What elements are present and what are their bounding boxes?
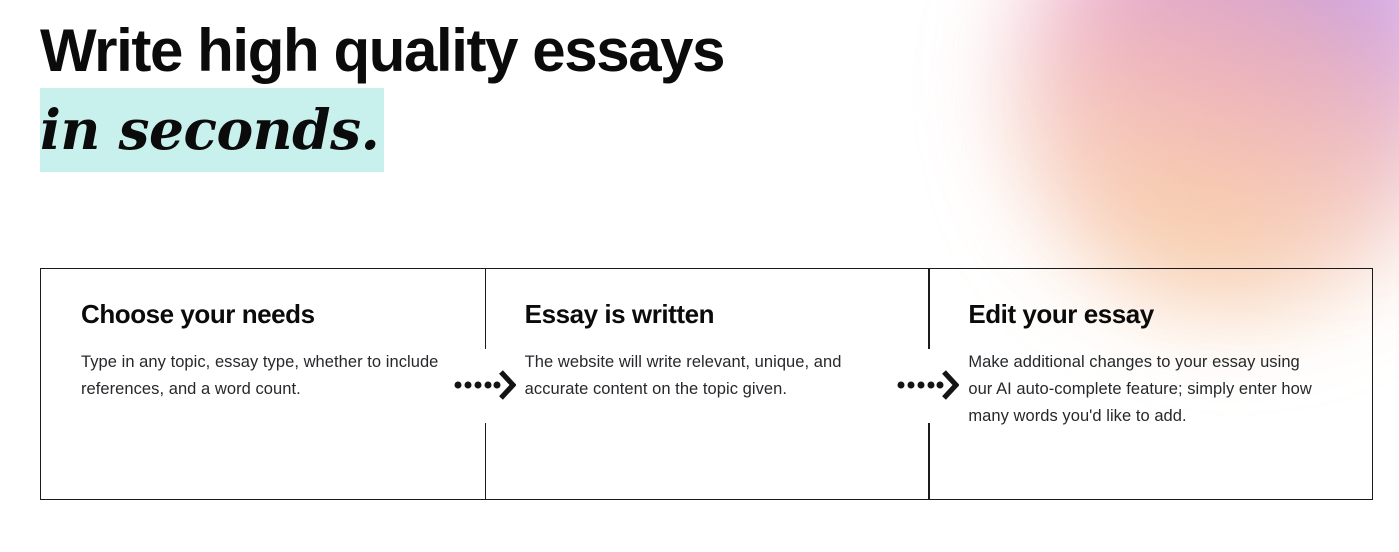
step-body: The website will write relevant, unique,… [525,349,885,403]
dotted-arrow-right-icon [897,369,959,401]
column-divider-bottom [928,423,930,500]
step-title: Essay is written [525,298,889,330]
step-column-3: Edit your essay Make additional changes … [928,269,1372,499]
step-column-1: Choose your needs Type in any topic, ess… [41,269,485,499]
gradient-blob-yellow-layer [1024,0,1399,300]
gradient-blob-violet-layer [1024,0,1399,300]
gradient-blob-purple-layer [1024,0,1399,300]
gradient-blob-pink-layer [1024,0,1399,300]
column-divider-top [485,268,487,349]
step-title: Edit your essay [968,298,1332,330]
landing-hero-page: Write high quality essays in seconds. Ch… [0,0,1399,552]
headline-line-secondary-row: in seconds. [40,88,724,172]
headline-line-primary: Write high quality essays [40,14,724,88]
step-column-2: Essay is written The website will write … [485,269,929,499]
step-body: Type in any topic, essay type, whether t… [81,349,441,403]
column-divider-bottom [485,423,487,500]
step-body: Make additional changes to your essay us… [968,349,1328,430]
dotted-arrow-right-icon [454,369,516,401]
steps-card: Choose your needs Type in any topic, ess… [40,268,1373,500]
gradient-blob [1024,0,1399,300]
step-title: Choose your needs [81,298,445,330]
column-divider-top [928,268,930,349]
page-title: Write high quality essays in seconds. [40,14,724,172]
headline-line-highlighted: in seconds. [40,88,384,172]
